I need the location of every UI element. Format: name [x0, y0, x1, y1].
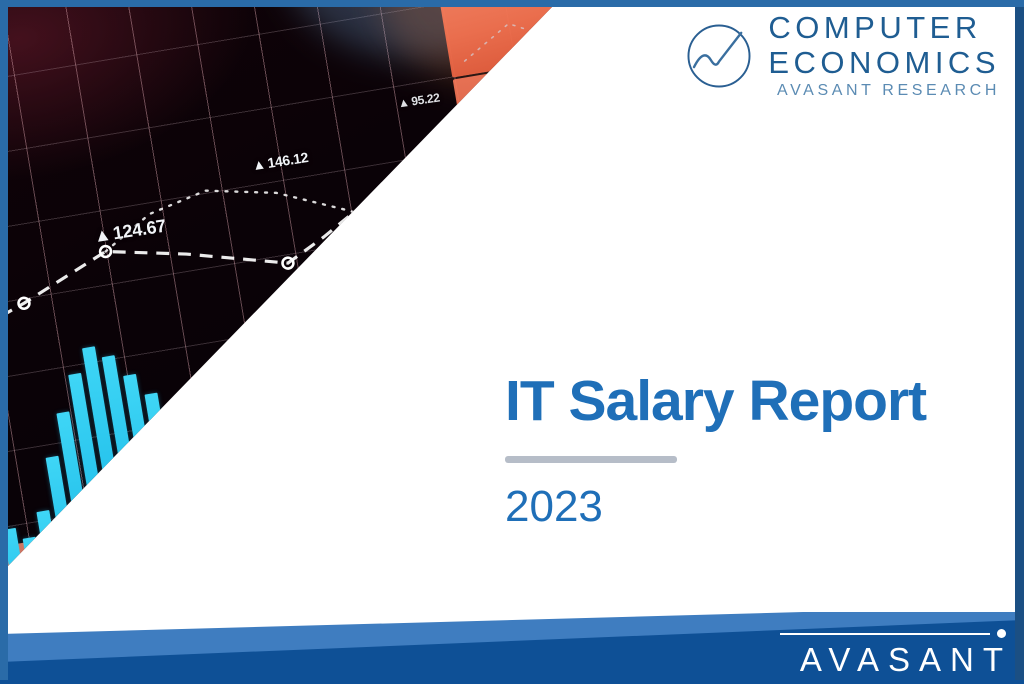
bar	[445, 336, 501, 567]
bar	[144, 393, 199, 567]
triangle-up-icon: ▲	[92, 224, 112, 247]
triangle-up-icon: ▲	[488, 120, 500, 133]
logo-line-computer: COMPUTER	[768, 12, 1000, 43]
bar	[325, 273, 395, 567]
report-year: 2023	[505, 485, 926, 529]
logo-line-economics: ECONOMICS	[768, 47, 1000, 78]
avasant-rule-line	[780, 633, 990, 635]
logo-wordmark: COMPUTER ECONOMICS AVASANT RESEARCH	[768, 12, 1000, 99]
title-block: IT Salary Report 2023	[505, 372, 926, 529]
bar	[282, 449, 324, 567]
avasant-dot-icon	[997, 629, 1006, 638]
bar	[304, 366, 359, 567]
avasant-wordmark: AVASANT	[800, 643, 1012, 676]
bar	[381, 278, 448, 567]
frame-border-bottom	[0, 680, 1024, 684]
triangle-up-icon: ▲	[251, 155, 267, 173]
bar	[227, 450, 271, 567]
page-title: IT Salary Report	[505, 372, 926, 432]
computer-economics-logo: COMPUTER ECONOMICS AVASANT RESEARCH	[682, 12, 1000, 99]
frame-border-left	[0, 0, 8, 684]
slide-root: ▲66.14 ▲124.67 ▲146.12 ▲95.22 ▲85.26 ▲47…	[0, 0, 1024, 684]
bar	[165, 407, 217, 567]
accent-block-3	[587, 7, 627, 110]
frame-border-right	[1015, 0, 1024, 684]
logo-line-avasant-research: AVASANT RESEARCH	[777, 83, 1000, 99]
bar	[359, 259, 430, 567]
avasant-rule	[800, 629, 1012, 638]
avasant-logo: AVASANT	[800, 629, 1012, 676]
bar	[293, 410, 341, 567]
title-divider	[505, 456, 677, 463]
bar-highlight	[234, 515, 270, 567]
bar	[424, 319, 483, 567]
bar	[403, 301, 466, 567]
bar	[339, 248, 412, 567]
circle-wave-mark-icon	[682, 19, 756, 93]
annotation-85-26: ▲85.26	[488, 116, 528, 134]
triangle-up-icon: ▲	[397, 95, 411, 111]
frame-border-top	[0, 0, 1024, 7]
bar	[315, 319, 377, 567]
bar	[185, 418, 235, 567]
bar	[267, 469, 306, 567]
bar	[247, 461, 288, 567]
bar	[206, 435, 252, 567]
